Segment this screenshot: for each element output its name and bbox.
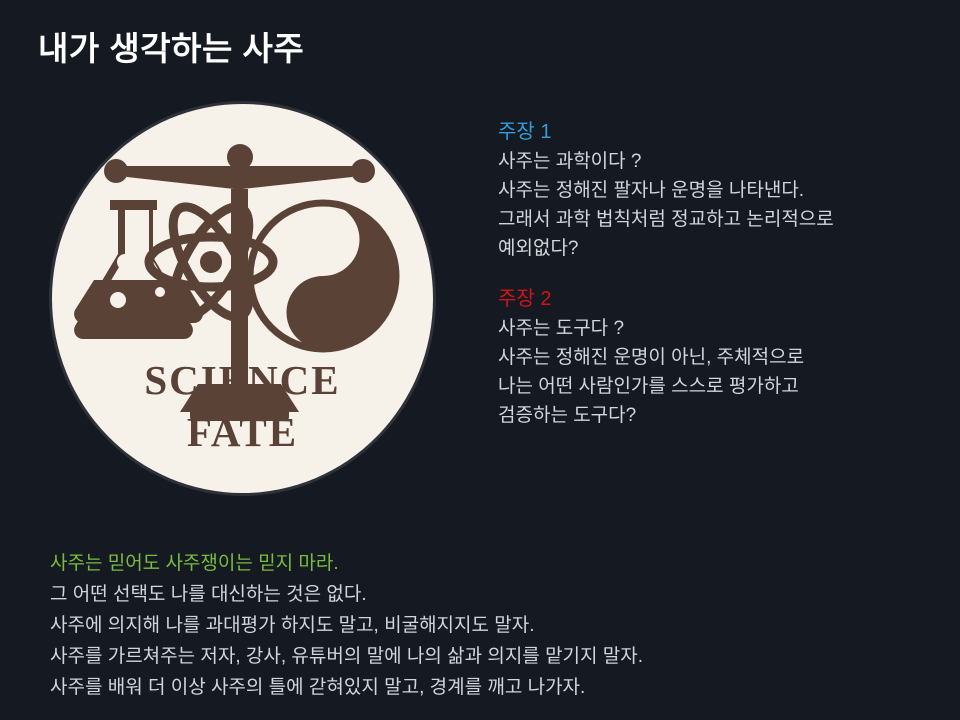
page-title: 내가 생각하는 사주 (38, 22, 304, 70)
scale-knob-left-icon (104, 159, 128, 183)
science-fate-logo: SCIENCE FATE (52, 104, 433, 493)
claim-block-2: 주장 2 사주는 도구다 ? 사주는 정해진 운명이 아닌, 주체적으로 나는 … (498, 285, 950, 430)
conclusion-line-1: 사주는 믿어도 사주쟁이는 믿지 마라. (50, 548, 940, 579)
logo-word-science: SCIENCE (52, 354, 433, 406)
claim-1-line-3: 그래서 과학 법칙처럼 정교하고 논리적으로 (498, 205, 950, 234)
conclusion-line-4: 사주를 가르쳐주는 저자, 강사, 유튜버의 말에 나의 삶과 의지를 맡기지 … (50, 641, 940, 672)
claim-2-line-3: 나는 어떤 사람인가를 스스로 평가하고 (498, 372, 950, 401)
conclusion-line-3: 사주에 의지해 나를 과대평가 하지도 말고, 비굴해지지도 말자. (50, 610, 940, 641)
claim-2-line-4: 검증하는 도구다? (498, 401, 950, 430)
claim-2-line-1: 사주는 도구다 ? (498, 314, 950, 343)
scale-beam-lower-icon (127, 177, 352, 189)
claim-1-line-2: 사주는 정해진 팔자나 운명을 나타낸다. (498, 176, 950, 205)
scale-knob-right-icon (351, 159, 375, 183)
presentation-slide: 내가 생각하는 사주 (0, 0, 960, 720)
conclusion-line-2: 그 어떤 선택도 나를 대신하는 것은 없다. (50, 579, 940, 610)
claim-2-heading: 주장 2 (498, 285, 950, 314)
claim-2-line-2: 사주는 정해진 운명이 아닌, 주체적으로 (498, 343, 950, 372)
claims-panel: 주장 1 사주는 과학이다 ? 사주는 정해진 팔자나 운명을 나타낸다. 그래… (498, 118, 950, 452)
yin-yang-icon (250, 203, 396, 349)
claim-1-line-1: 사주는 과학이다 ? (498, 147, 950, 176)
logo-word-fate: FATE (52, 406, 433, 458)
logo-wordmark: SCIENCE FATE (52, 354, 433, 458)
claim-1-heading: 주장 1 (498, 118, 950, 147)
conclusion-panel: 사주는 믿어도 사주쟁이는 믿지 마라. 그 어떤 선택도 나를 대신하는 것은… (50, 548, 940, 703)
claim-1-line-4: 예외없다? (498, 234, 950, 263)
claim-block-1: 주장 1 사주는 과학이다 ? 사주는 정해진 팔자나 운명을 나타낸다. 그래… (498, 118, 950, 263)
conclusion-line-5: 사주를 배워 더 이상 사주의 틀에 갇혀있지 말고, 경계를 깨고 나가자. (50, 672, 940, 703)
